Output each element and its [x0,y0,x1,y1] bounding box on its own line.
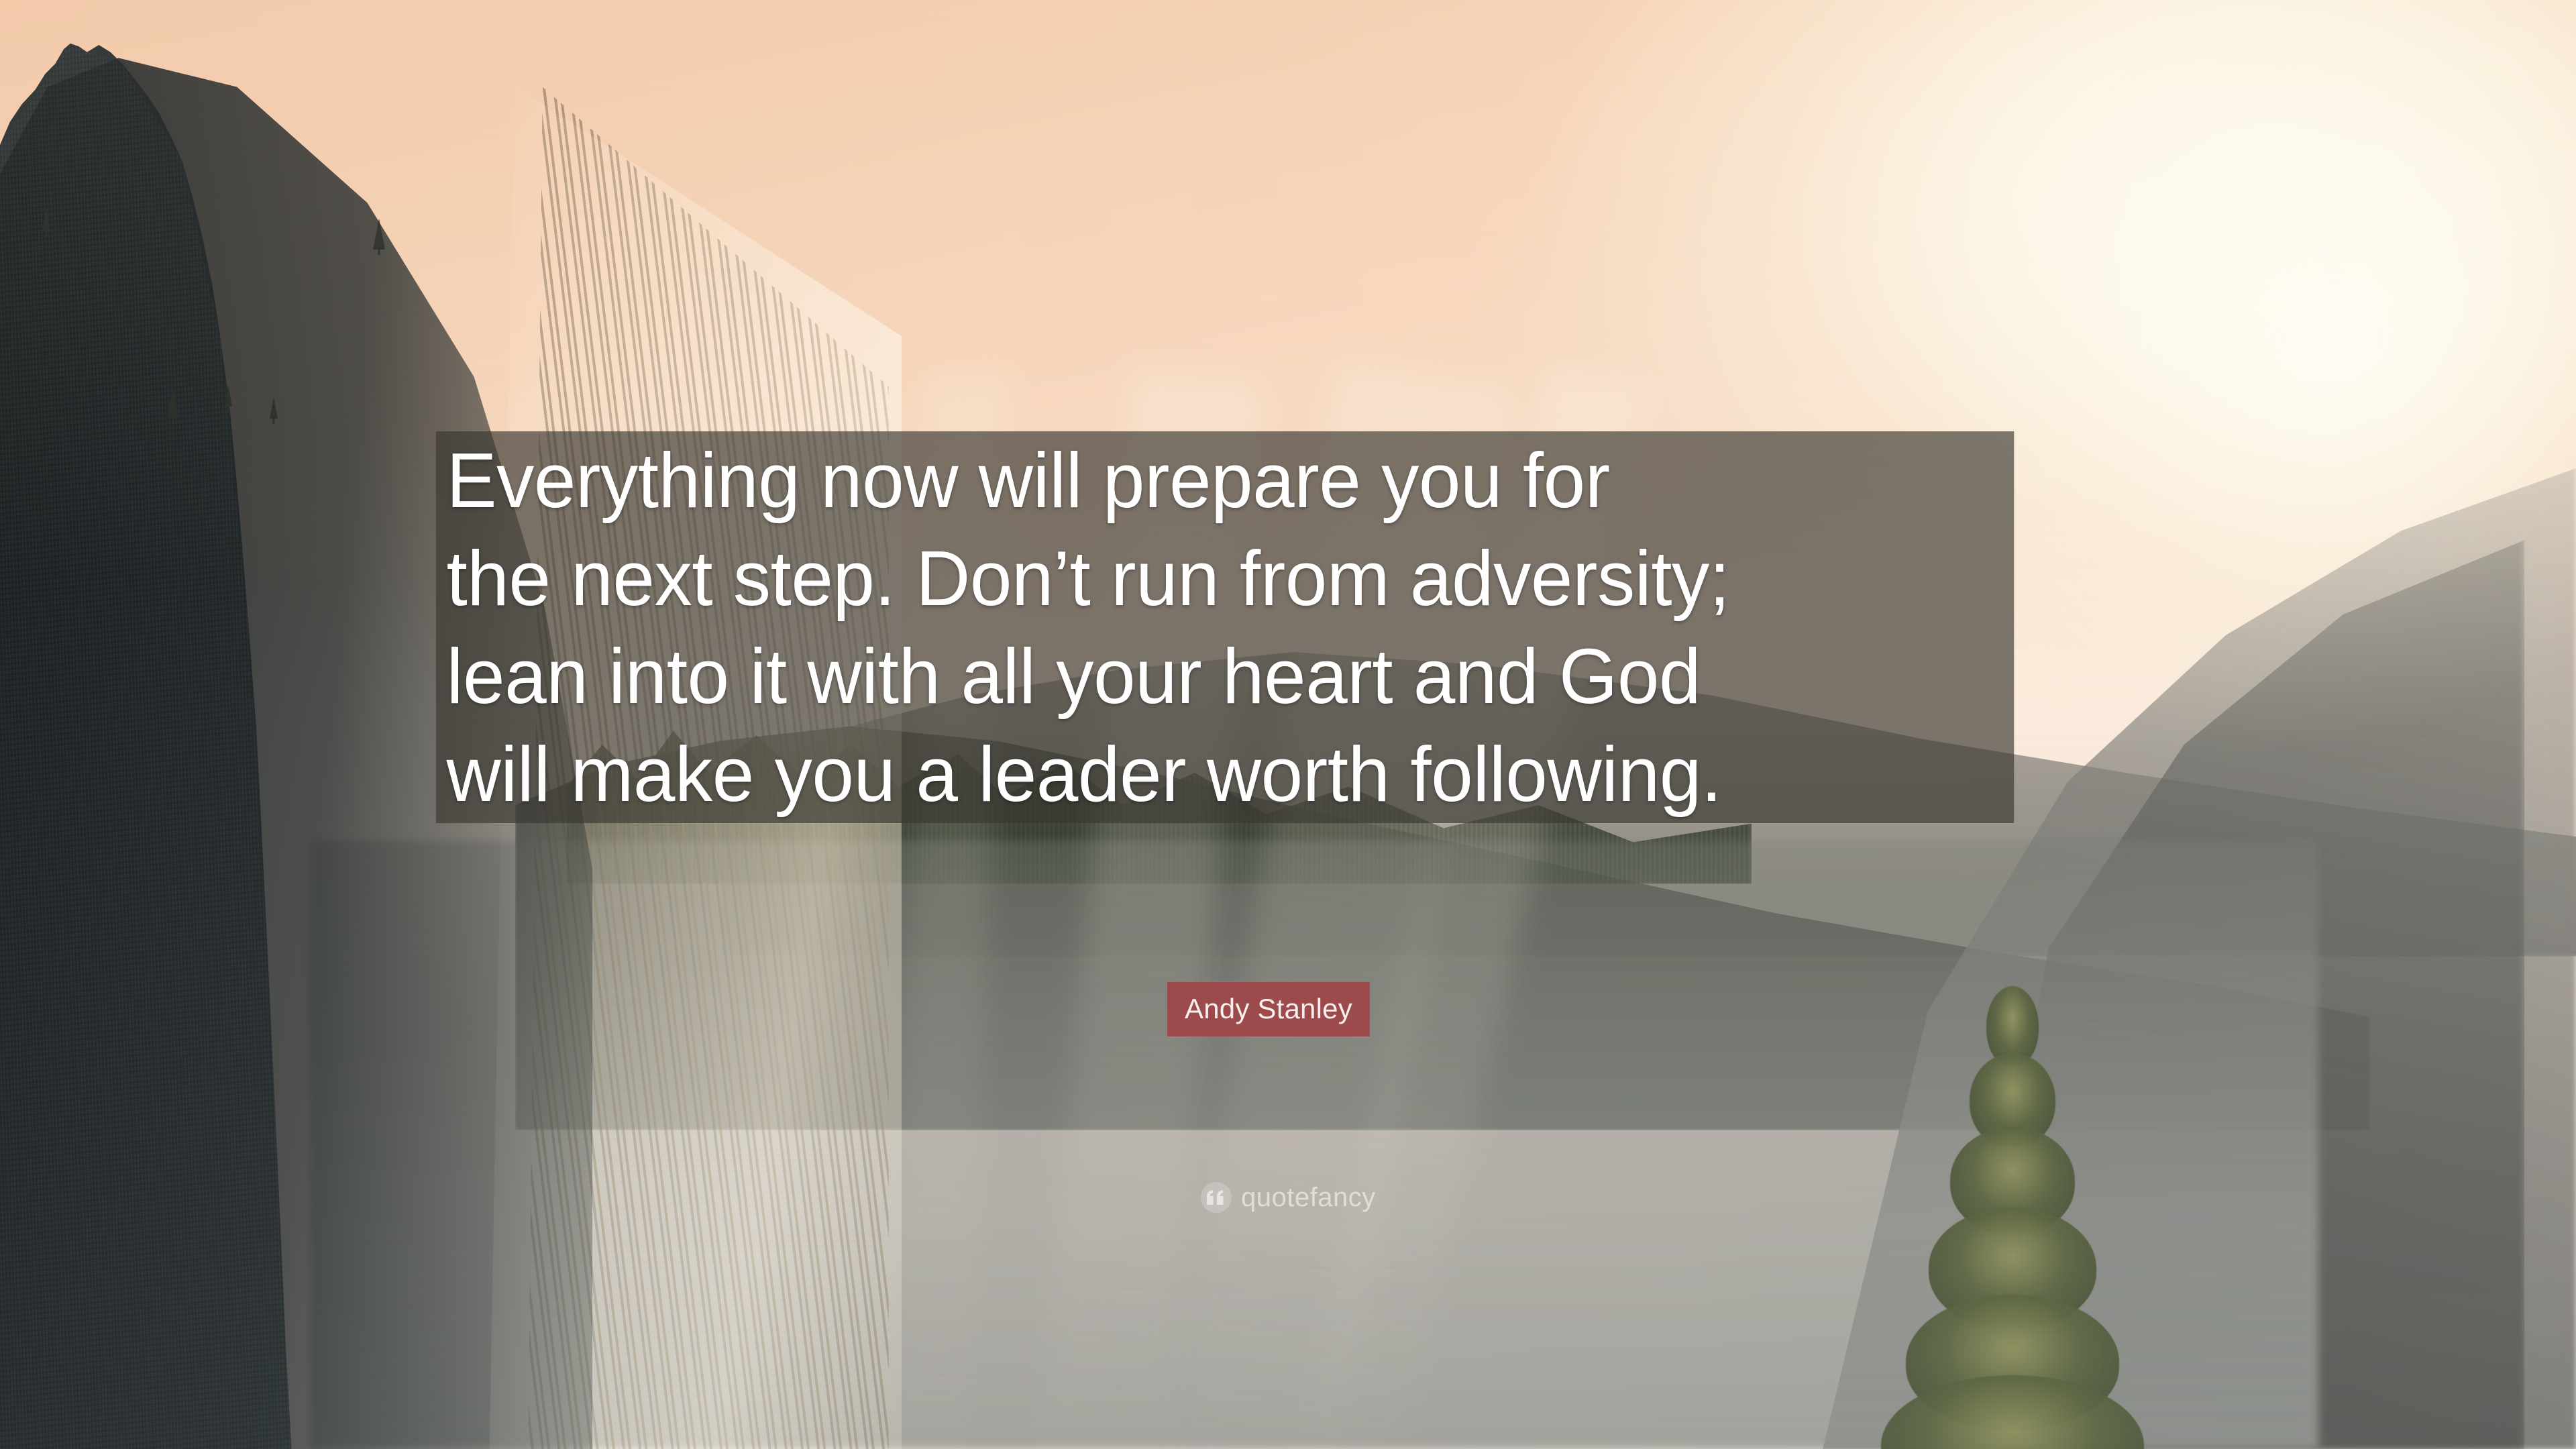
quotefancy-brand-text: quotefancy [1241,1183,1376,1213]
quote-text-block: Everything now will prepare you for the … [436,431,2063,823]
quote-line: Everything now will prepare you for [436,431,2014,529]
crest-tree-icon [223,368,233,407]
quote-line: will make you a leader worth following. [436,725,2014,823]
crest-tree-icon [42,201,51,231]
quote-line: the next step. Don’t run from adversity; [436,529,2014,627]
crest-tree-icon [268,384,279,419]
quote-line: lean into it with all your heart and God [436,627,2014,725]
quote-poster: Everything now will prepare you for the … [0,0,2576,1449]
crest-tree-icon [372,212,386,250]
crest-tree-icon [166,373,180,417]
quotefancy-watermark[interactable]: quotefancy [1201,1182,1376,1213]
quote-marks-icon [1201,1182,1232,1213]
foreground-conifer-tree [1872,959,2153,1449]
author-attribution-badge[interactable]: Andy Stanley [1167,981,1370,1036]
